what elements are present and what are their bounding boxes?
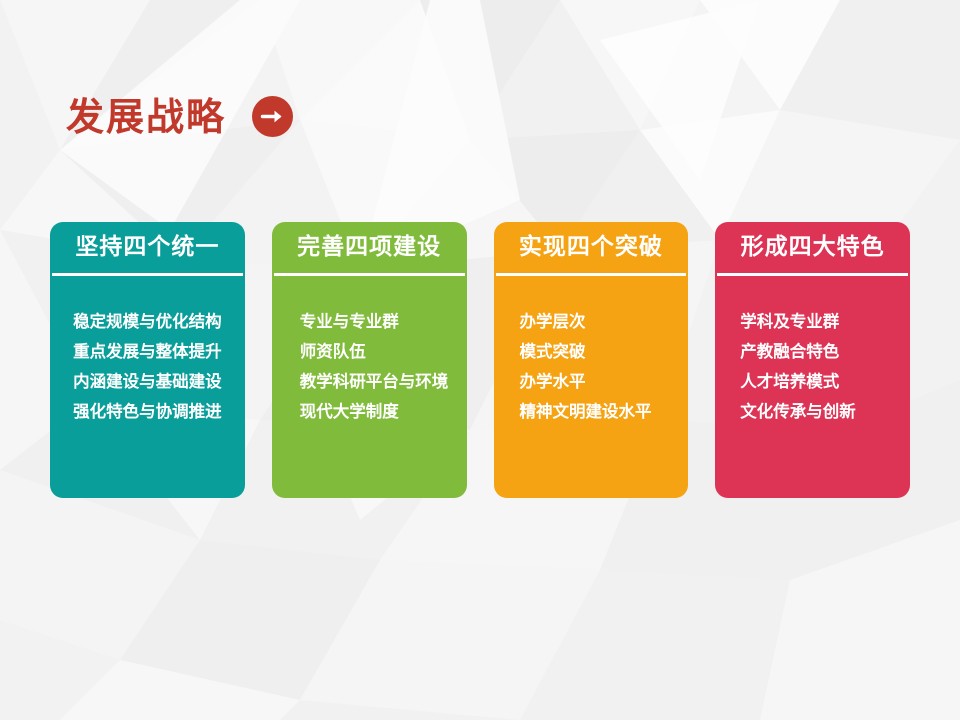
card-title-breakthrough: 实现四个突破 [519,236,663,259]
list-item: 稳定规模与优化结构 [50,308,245,335]
strategy-card-features[interactable]: 形成四大特色 学科及专业群 产教融合特色 人才培养模式 文化传承与创新 [715,222,910,498]
list-item: 重点发展与整体提升 [50,338,245,365]
list-item: 师资队伍 [300,338,467,365]
card-body-breakthrough: 办学层次 模式突破 办学水平 精神文明建设水平 [494,276,689,498]
slide-canvas: 发展战略 坚持四个统一 稳定规模与优化结构 重点发展与整体提升 内涵建设与基础建… [0,0,960,720]
card-header-unify: 坚持四个统一 [50,222,245,273]
strategy-card-breakthrough[interactable]: 实现四个突破 办学层次 模式突破 办学水平 精神文明建设水平 [494,222,689,498]
page-title-text: 发展战略 [66,98,226,136]
arrow-right-circle-icon[interactable] [252,96,293,137]
list-item: 教学科研平台与环境 [300,368,467,395]
list-item: 专业与专业群 [300,308,467,335]
list-item: 产教融合特色 [740,338,910,365]
card-body-features: 学科及专业群 产教融合特色 人才培养模式 文化传承与创新 [715,276,910,498]
card-header-features: 形成四大特色 [715,222,910,273]
card-body-unify: 稳定规模与优化结构 重点发展与整体提升 内涵建设与基础建设 强化特色与协调推进 [50,276,245,498]
list-item: 模式突破 [520,338,689,365]
list-item: 文化传承与创新 [740,398,910,425]
list-item: 现代大学制度 [300,398,467,425]
strategy-card-list: 坚持四个统一 稳定规模与优化结构 重点发展与整体提升 内涵建设与基础建设 强化特… [50,222,910,498]
list-item: 内涵建设与基础建设 [50,368,245,395]
list-item: 人才培养模式 [740,368,910,395]
card-title-features: 形成四大特色 [741,236,885,259]
list-item: 强化特色与协调推进 [50,398,245,425]
strategy-card-construction[interactable]: 完善四项建设 专业与专业群 师资队伍 教学科研平台与环境 现代大学制度 [272,222,467,498]
page-title: 发展战略 [66,96,293,137]
list-item: 精神文明建设水平 [520,398,689,425]
strategy-card-unify[interactable]: 坚持四个统一 稳定规模与优化结构 重点发展与整体提升 内涵建设与基础建设 强化特… [50,222,245,498]
card-title-unify: 坚持四个统一 [75,236,219,259]
list-item: 办学水平 [520,368,689,395]
card-header-construction: 完善四项建设 [272,222,467,273]
list-item: 学科及专业群 [740,308,910,335]
card-header-breakthrough: 实现四个突破 [494,222,689,273]
card-title-construction: 完善四项建设 [297,236,441,259]
card-body-construction: 专业与专业群 师资队伍 教学科研平台与环境 现代大学制度 [272,276,467,498]
list-item: 办学层次 [520,308,689,335]
